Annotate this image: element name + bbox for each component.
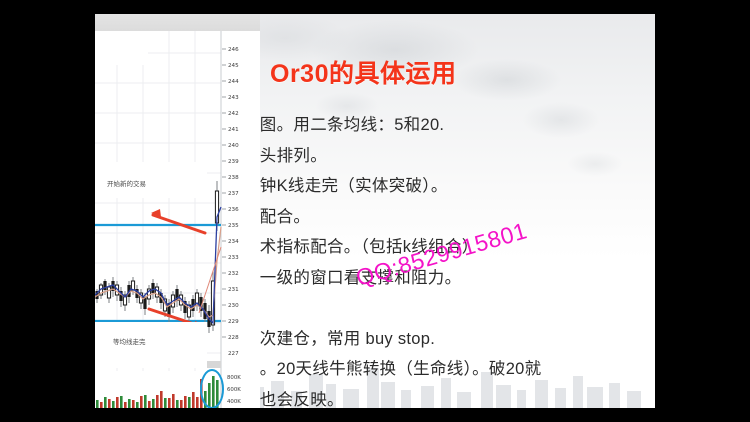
svg-text:800K: 800K [227, 375, 241, 381]
body-line: 现 [243, 293, 655, 324]
svg-text:244: 244 [228, 79, 239, 85]
body-line: 多头排列。 [243, 141, 655, 172]
svg-text:241: 241 [228, 127, 239, 133]
svg-text:600K: 600K [227, 387, 241, 393]
svg-text:227: 227 [228, 351, 239, 357]
chart-mask [95, 31, 148, 65]
chart-toolbar[interactable] [95, 14, 260, 32]
svg-text:229: 229 [228, 319, 239, 325]
body-line: 二次建仓，常用 buy stop. [243, 324, 655, 355]
svg-text:243: 243 [228, 95, 239, 101]
chart-annotation-wait-ma: 等均线走完 [111, 335, 148, 347]
svg-text:231: 231 [228, 287, 239, 293]
svg-text:242: 242 [228, 111, 239, 117]
body-line: 高一级的窗口看支撑和阻力。 [243, 263, 655, 294]
svg-text:400K: 400K [227, 399, 241, 405]
svg-text:230: 230 [228, 303, 239, 309]
presentation-slide: Or30的具体运用 钟图。用二条均线：5和20. 多头排列。 分钟K线走完（实体… [95, 14, 655, 408]
svg-text:238: 238 [228, 175, 239, 181]
svg-text:234: 234 [228, 239, 239, 245]
svg-text:239: 239 [228, 159, 239, 165]
body-line: 分钟K线走完（实体突破）。 [243, 171, 655, 202]
page-title: Or30的具体运用 [270, 54, 456, 90]
svg-text:245: 245 [228, 63, 239, 69]
volume-axis: 800K 600K 400K 200K [227, 375, 241, 408]
svg-text:240: 240 [228, 143, 239, 149]
video-frame: Or30的具体运用 钟图。用二条均线：5和20. 多头排列。 分钟K线走完（实体… [0, 0, 750, 422]
candlestick-chart-window[interactable]: 246245 244243 242241 240239 238237 23623… [95, 14, 260, 408]
body-line: 钟图。用二条均线：5和20. [243, 110, 655, 141]
body-line: 位。20天线牛熊转换（生命线）。破20就 [243, 354, 655, 385]
svg-text:235: 235 [228, 223, 239, 229]
body-line: 示也会反映。 [243, 385, 655, 409]
body-line: 量配合。 [243, 202, 655, 233]
svg-text:246: 246 [228, 47, 239, 53]
svg-text:228: 228 [228, 335, 239, 341]
svg-text:236: 236 [228, 207, 239, 213]
svg-text:232: 232 [228, 271, 239, 277]
svg-text:233: 233 [228, 255, 239, 261]
svg-text:237: 237 [228, 191, 239, 197]
chart-annotation-start-new-trade: 开始新的交易 [105, 177, 148, 189]
